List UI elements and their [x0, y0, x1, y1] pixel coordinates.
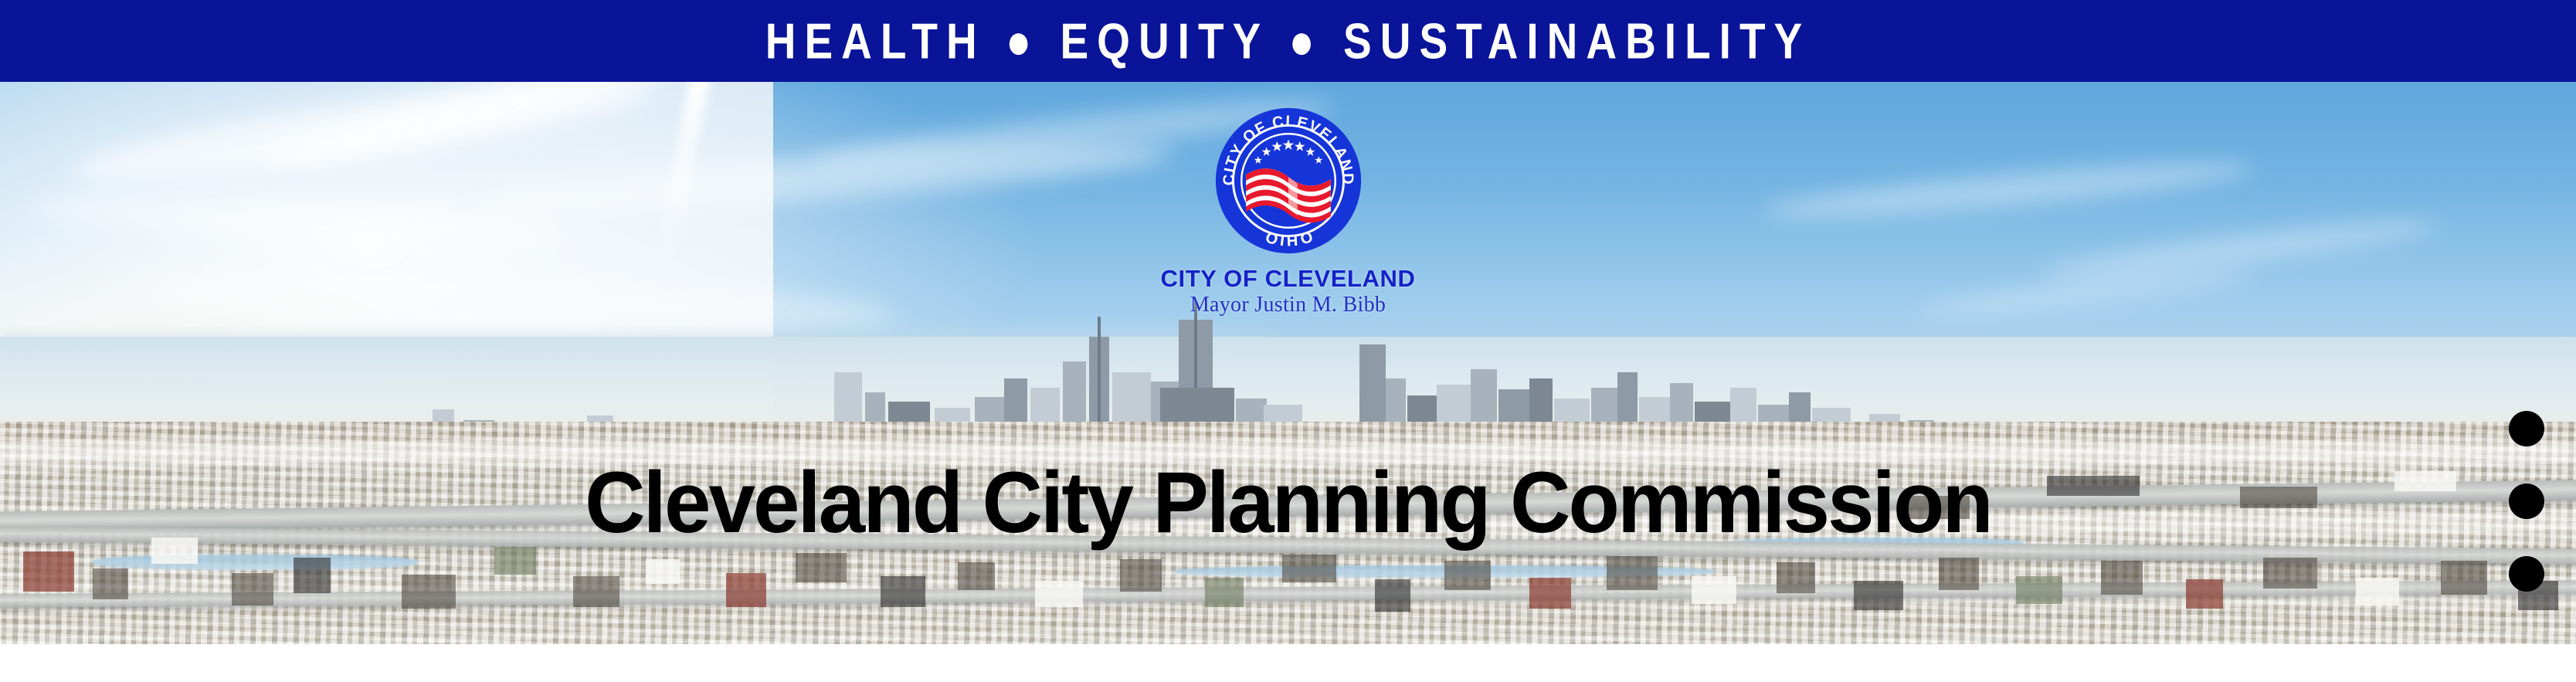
- tagline-banner: HEALTH ● EQUITY ● SUSTAINABILITY: [0, 0, 2576, 82]
- youtube-icon[interactable]: [2509, 411, 2544, 446]
- instagram-icon[interactable]: [2509, 484, 2544, 519]
- bottom-whitespace: [0, 644, 2576, 682]
- hero-banner-photo: CITY OF CLEVELAND OHIO: [0, 82, 2576, 644]
- page-root: HEALTH ● EQUITY ● SUSTAINABILITY: [0, 0, 2576, 682]
- page-title: Cleveland City Planning Commission: [39, 460, 2537, 546]
- social-links: [2509, 411, 2544, 592]
- facebook-icon[interactable]: [2509, 556, 2544, 592]
- tagline-text: HEALTH ● EQUITY ● SUSTAINABILITY: [765, 16, 1811, 66]
